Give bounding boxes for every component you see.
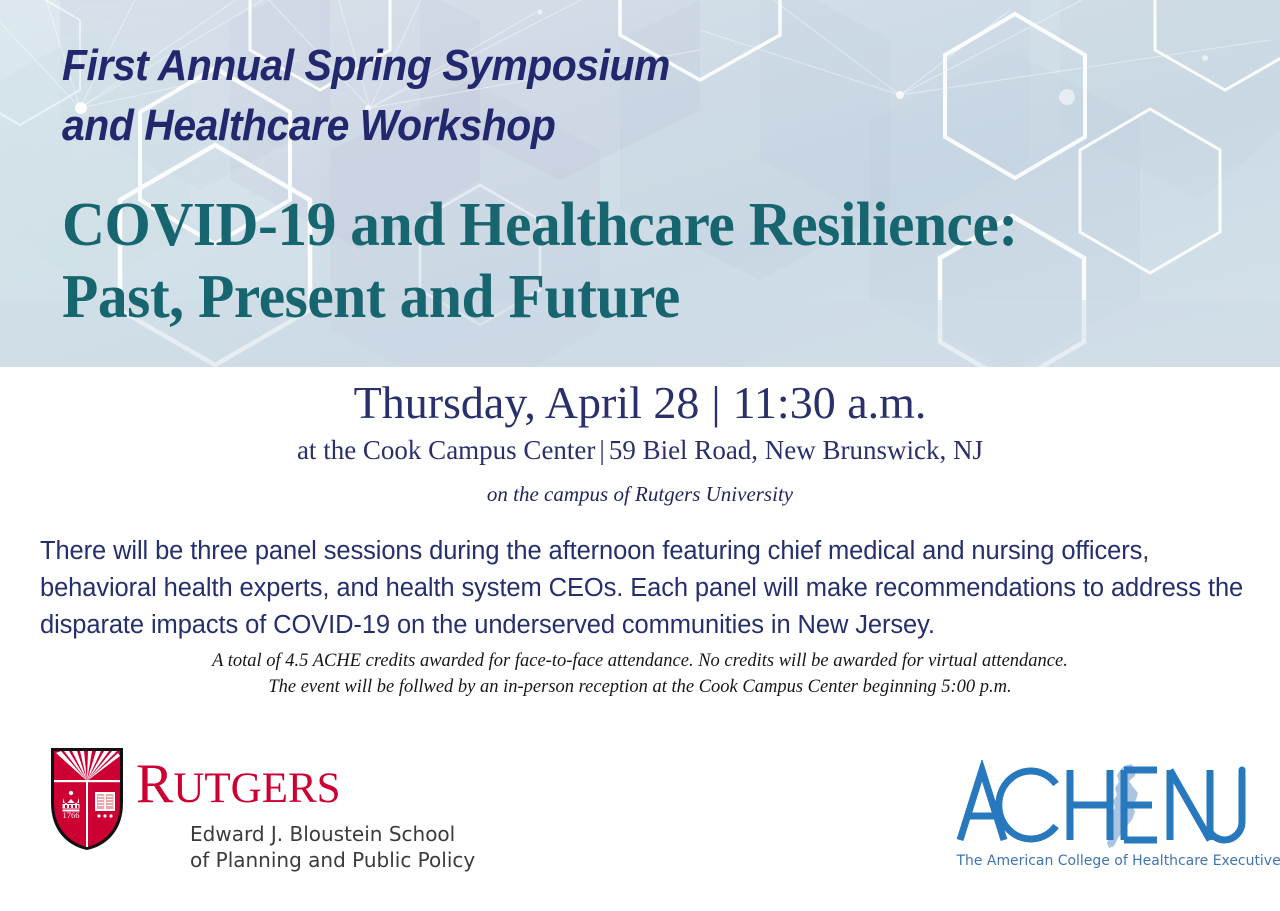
flyer-title-line-2: and Healthcare Workshop <box>62 100 555 152</box>
venue-separator: | <box>595 435 608 465</box>
event-flyer: First Annual Spring Symposium and Health… <box>0 0 1280 911</box>
rutgers-wordmark: RUTGERS <box>136 755 341 818</box>
rutgers-school-line-2: of Planning and Public Policy <box>190 847 475 873</box>
datetime-separator: | <box>699 377 732 428</box>
venue-name: at the Cook Campus Center <box>297 435 595 465</box>
rutgers-wordmark-initial: R <box>136 753 173 815</box>
rutgers-school-name: Edward J. Bloustein School of Planning a… <box>190 821 475 873</box>
flyer-title-line-1: First Annual Spring Symposium <box>62 40 670 92</box>
ache-nj-mark-icon <box>952 760 1252 852</box>
rutgers-shield-icon: 1766 <box>48 745 126 853</box>
event-venue: at the Cook Campus Center|59 Biel Road, … <box>0 434 1280 466</box>
ache-tagline: The American College of Healthcare Execu… <box>957 852 1248 870</box>
rutgers-school-line-1: Edward J. Bloustein School <box>190 821 475 847</box>
event-datetime: Thursday, April 28|11:30 a.m. <box>0 377 1280 429</box>
event-date: Thursday, April 28 <box>354 377 700 428</box>
hero-banner: First Annual Spring Symposium and Health… <box>0 0 1280 367</box>
event-description: There will be three panel sessions durin… <box>40 533 1245 644</box>
rutgers-logo: 1766 RUTGERS Edward J. Bloustein School … <box>48 745 468 875</box>
rutgers-wordmark-rest: UTGERS <box>173 765 340 812</box>
credits-note: A total of 4.5 ACHE credits awarded for … <box>0 648 1280 700</box>
ache-nj-logo: The American College of Healthcare Execu… <box>952 760 1252 878</box>
shield-year-text: 1766 <box>63 810 80 820</box>
credits-note-line-1: A total of 4.5 ACHE credits awarded for … <box>0 648 1280 674</box>
credits-note-line-2: The event will be follwed by an in-perso… <box>0 674 1280 700</box>
flyer-headline-line-2: Past, Present and Future <box>62 262 680 332</box>
venue-address: 59 Biel Road, New Brunswick, NJ <box>609 435 983 465</box>
flyer-headline-line-1: COVID-19 and Healthcare Resilience: <box>62 190 1018 260</box>
campus-note: on the campus of Rutgers University <box>0 481 1280 507</box>
event-time: 11:30 a.m. <box>733 377 927 428</box>
